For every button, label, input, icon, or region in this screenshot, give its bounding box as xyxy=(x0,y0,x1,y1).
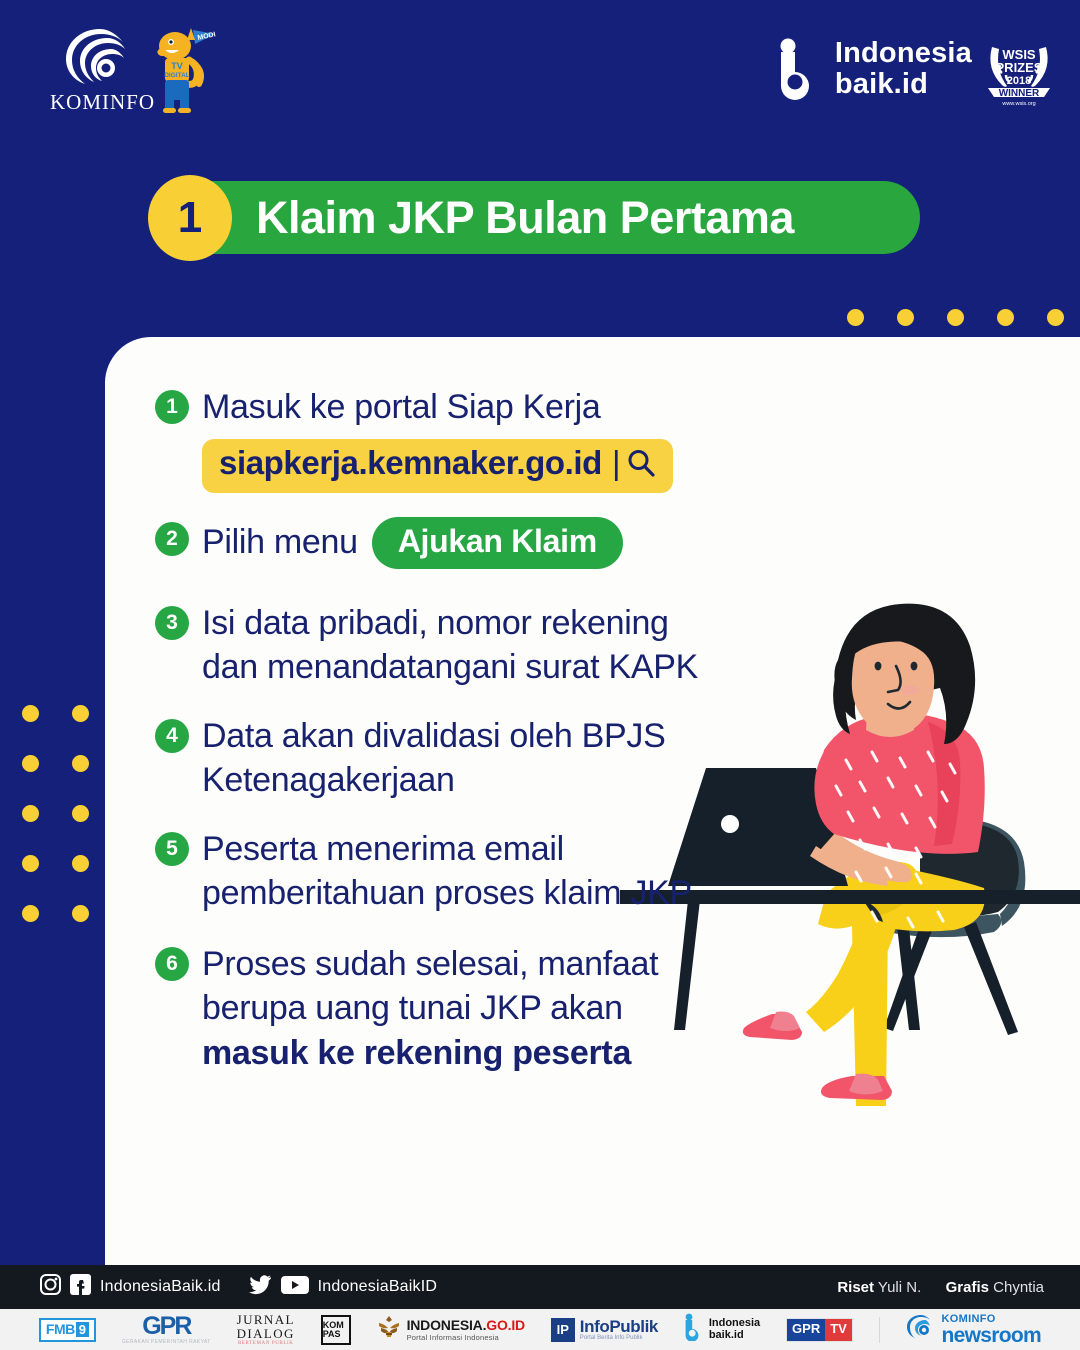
modi-mascot-icon: MODI TV DIGITAL xyxy=(143,22,219,114)
gpr-text: GPR xyxy=(142,1314,190,1339)
list-item: 1 Masuk ke portal Siap Kerja siapkerja.k… xyxy=(155,385,715,493)
list-item: 2 Pilih menu Ajukan Klaim xyxy=(155,517,715,569)
social-handle-2: IndonesiaBaikID xyxy=(318,1278,438,1296)
kominfo-logo: KOMINFO xyxy=(50,28,150,114)
svg-text:DIGITAL: DIGITAL xyxy=(164,72,190,79)
step-text: Pilih menu xyxy=(202,520,358,565)
ib-line-1: Indonesia xyxy=(835,38,972,69)
partner-logo-fmb9: FMB9 xyxy=(39,1313,96,1347)
step-number-badge: 3 xyxy=(155,606,189,640)
step-number-badge: 6 xyxy=(155,947,189,981)
kominfo-swirl-icon xyxy=(61,28,139,88)
credit-grafis-label: Grafis xyxy=(946,1279,989,1296)
garuda-icon xyxy=(377,1314,401,1345)
decorative-dot xyxy=(72,855,89,872)
list-item: 3 Isi data pribadi, nomor rekening dan m… xyxy=(155,601,715,690)
decorative-dot xyxy=(22,905,39,922)
partner-logo-kompas: KOM PAS xyxy=(321,1313,351,1347)
igo-text-a: INDONESIA. xyxy=(407,1317,487,1333)
indonesiabaik-wordmark: Indonesia baik.id xyxy=(835,38,972,99)
youtube-icon[interactable] xyxy=(281,1275,309,1300)
list-item: 6 Proses sudah selesai, manfaat berupa u… xyxy=(155,942,715,1076)
svg-text:WINNER: WINNER xyxy=(999,88,1040,99)
partner-logo-jurnal-dialog: JURNAL DIALOG BERTEMAN PUBLIK xyxy=(237,1313,295,1347)
partner-logo-kominfo-newsroom: KOMINFO newsroom xyxy=(906,1313,1041,1347)
jurnal-dialog-line2: DIALOG xyxy=(237,1327,295,1341)
indonesiabaik-small-line2: baik.id xyxy=(709,1330,760,1342)
newsroom-line1: KOMINFO xyxy=(942,1314,1041,1325)
step-list: 1 Masuk ke portal Siap Kerja siapkerja.k… xyxy=(155,385,715,1081)
indonesiabaik-logo: Indonesia baik.id xyxy=(777,30,972,108)
credit-grafis-value: Chyntia xyxy=(993,1279,1044,1296)
partner-logo-indonesiabaik: Indonesia baik.id xyxy=(684,1313,760,1347)
poster-canvas: KOMINFO MODI TV DIGITAL xyxy=(0,0,1080,1350)
svg-text:TV: TV xyxy=(171,61,183,71)
fmb9-text: FMB xyxy=(46,1321,75,1337)
title-banner: 1 Klaim JKP Bulan Pertama xyxy=(160,181,920,254)
menu-pill-ajukan-klaim[interactable]: Ajukan Klaim xyxy=(372,517,623,569)
kompas-text: KOM PAS xyxy=(323,1321,349,1338)
ib-line-2: baik.id xyxy=(835,69,972,100)
decorative-dot xyxy=(947,309,964,326)
partner-logo-gpr: GPR GERAKAN PEMERINTAH RAKYAT xyxy=(122,1313,211,1347)
decorative-dot xyxy=(22,855,39,872)
newsroom-line2: newsroom xyxy=(942,1325,1041,1346)
step-text: Data akan divalidasi oleh BPJS Ketenagak… xyxy=(202,714,715,803)
decorative-dot xyxy=(72,705,89,722)
footer-social-bar: IndonesiaBaik.id IndonesiaBaikID Riset Y… xyxy=(0,1265,1080,1309)
list-item: 5 Peserta menerima email pemberitahuan p… xyxy=(155,827,715,916)
credit-riset-label: Riset xyxy=(837,1279,874,1296)
indonesiabaik-small-line1: Indonesia xyxy=(709,1318,760,1330)
instagram-icon[interactable] xyxy=(40,1274,61,1300)
kominfo-wordmark: KOMINFO xyxy=(50,90,150,115)
step-text: Peserta menerima email pemberitahuan pro… xyxy=(202,827,715,916)
decorative-dot xyxy=(997,309,1014,326)
svg-text:www.wsis.org: www.wsis.org xyxy=(1001,101,1035,107)
step-number-badge: 1 xyxy=(155,390,189,424)
decorative-dot xyxy=(1047,309,1064,326)
decorative-dot xyxy=(22,805,39,822)
gprtv-text-b: TV xyxy=(825,1319,852,1341)
page-title: Klaim JKP Bulan Pertama xyxy=(256,192,794,244)
infopublik-mark: IP xyxy=(551,1318,575,1342)
credits: Riset Yuli N. Grafis Chyntia xyxy=(837,1279,1044,1296)
step-text-normal: Proses sudah selesai, manfaat berupa uan… xyxy=(202,945,658,1028)
decorative-dot xyxy=(847,309,864,326)
step-text: Masuk ke portal Siap Kerja xyxy=(202,385,715,430)
partner-logo-indonesia-go-id: INDONESIA.GO.ID Portal Informasi Indones… xyxy=(377,1313,525,1347)
igo-text-b: GO.ID xyxy=(486,1317,525,1333)
jurnal-dialog-line1: JURNAL xyxy=(237,1313,295,1327)
decorative-dot xyxy=(72,755,89,772)
indonesiabaik-small-mark-icon xyxy=(684,1313,704,1346)
decorative-dot xyxy=(72,905,89,922)
decorative-dot xyxy=(22,705,39,722)
credit-riset-value: Yuli N. xyxy=(878,1279,921,1296)
indonesiabaik-mark-icon xyxy=(777,38,821,100)
twitter-icon[interactable] xyxy=(249,1274,272,1300)
decorative-dot xyxy=(897,309,914,326)
facebook-icon[interactable] xyxy=(70,1274,91,1300)
decorative-dot xyxy=(22,755,39,772)
svg-text:PRIZES: PRIZES xyxy=(996,60,1043,75)
partner-logo-gpr-tv: GPR TV xyxy=(786,1313,853,1347)
step-number-badge: 4 xyxy=(155,719,189,753)
partner-logo-bar: FMB9 GPR GERAKAN PEMERINTAH RAKYAT JURNA… xyxy=(0,1309,1080,1350)
url-separator: | xyxy=(602,444,622,481)
gprtv-text-a: GPR xyxy=(787,1319,825,1341)
jurnal-dialog-subtext: BERTEMAN PUBLIK xyxy=(238,1341,294,1346)
step-number-badge: 2 xyxy=(155,522,189,556)
wsis-prizes-badge-icon: WSIS PRIZES 2018 WINNER www.wsis.org xyxy=(980,29,1058,109)
step-text-emphasis: masuk ke rekening peserta xyxy=(202,1034,631,1072)
infopublik-text: InfoPublik xyxy=(580,1318,658,1335)
social-group-1: IndonesiaBaik.id IndonesiaBaikID xyxy=(40,1274,437,1300)
partner-logo-infopublik: IP InfoPublik Portal Berita Info Publik xyxy=(551,1313,658,1347)
url-text: siapkerja.kemnaker.go.id xyxy=(219,444,602,481)
step-text: Isi data pribadi, nomor rekening dan men… xyxy=(202,601,715,690)
kominfo-newsroom-swirl-icon xyxy=(906,1314,936,1345)
social-handle-1: IndonesiaBaik.id xyxy=(100,1278,221,1296)
fmb9-accent: 9 xyxy=(76,1322,89,1337)
search-icon[interactable] xyxy=(626,448,656,486)
title-number-badge: 1 xyxy=(148,175,232,261)
gpr-subtext: GERAKAN PEMERINTAH RAKYAT xyxy=(122,1339,211,1345)
step-number-badge: 5 xyxy=(155,832,189,866)
step-text: Proses sudah selesai, manfaat berupa uan… xyxy=(202,942,715,1076)
logo-divider xyxy=(879,1317,880,1343)
indonesia-go-id-subtext: Portal Informasi Indonesia xyxy=(407,1333,525,1342)
list-item: 4 Data akan divalidasi oleh BPJS Ketenag… xyxy=(155,714,715,803)
url-pill[interactable]: siapkerja.kemnaker.go.id| xyxy=(202,439,673,493)
indonesia-go-id-text: INDONESIA.GO.ID xyxy=(407,1317,525,1333)
header: KOMINFO MODI TV DIGITAL xyxy=(0,0,1080,140)
decorative-dot xyxy=(72,805,89,822)
svg-text:2018: 2018 xyxy=(1007,75,1031,87)
